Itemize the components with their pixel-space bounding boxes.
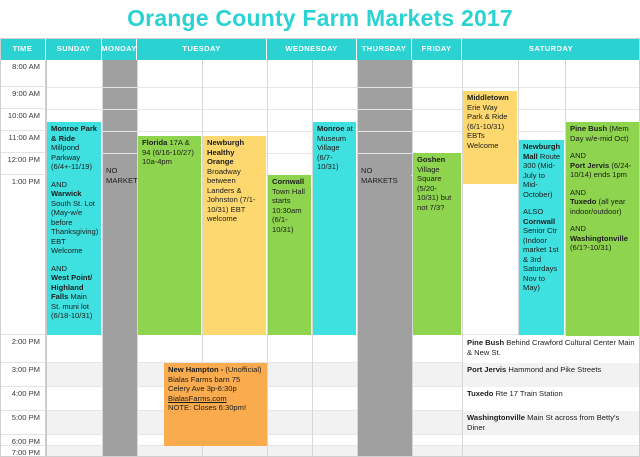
bg-sunday <box>46 411 102 435</box>
event-text: AND <box>51 180 98 190</box>
event-text: Broadway between Landers & Johnston (7/1… <box>207 167 256 224</box>
location-name: Tuxedo <box>467 389 493 398</box>
header-tuesday: TUESDAY <box>137 38 267 60</box>
monday-no-markets: NO MARKETS <box>103 164 137 188</box>
event-text: Cornwall <box>272 177 304 186</box>
event-text: Monroe Park & Ride <box>51 124 97 143</box>
event-text: New Hampton - <box>168 365 223 374</box>
bg-sunday <box>46 335 102 363</box>
bg-friday <box>412 387 462 411</box>
event-text: Middletown <box>467 93 509 102</box>
bg-friday <box>412 411 462 435</box>
location-note-port-jervis: Port Jervis Hammond and Pike Streets <box>463 363 640 387</box>
bg-sunday <box>46 435 102 446</box>
location-note-tuxedo: Tuxedo Rte 17 Train Station <box>463 387 640 411</box>
col-divider <box>102 60 103 457</box>
event-text: Warwick <box>51 189 82 198</box>
event-text: Village Square (5/20-10/31) but not 7/3? <box>417 165 451 212</box>
event-text: South St. Lot (May-w/e before Thanksgivi… <box>51 199 98 256</box>
bg-saturday <box>462 435 640 446</box>
time-label-8am: 8:00 AM <box>0 60 46 87</box>
row-sep <box>46 87 640 88</box>
event-text: NOTE: Closes 6:30pm! <box>168 403 264 413</box>
event-wednesday-monroe[interactable]: Monroe at Museum Village (6/7-10/31) <box>313 122 356 335</box>
event-text: Erie Way Park & Ride (6/1-10/31) EBTs We… <box>467 103 508 150</box>
time-label-12pm: 12:00 PM <box>0 153 46 175</box>
location-address: Rte 17 Train Station <box>493 389 562 398</box>
event-tuesday-new-hampton[interactable]: New Hampton - (Unofficial) Bialas Farms … <box>164 363 267 446</box>
time-label-4pm: 4:00 PM <box>0 387 46 411</box>
event-text: Newburgh Healthy Orange <box>207 138 244 166</box>
header-wednesday: WEDNESDAY <box>267 38 357 60</box>
bialas-farms-link[interactable]: BialasFarms.com <box>168 394 264 404</box>
event-text: Pine Bush <box>570 124 607 133</box>
event-text: Town Hall starts 10:30am (6/1-10/31) <box>272 187 305 234</box>
time-label-9am: 9:00 AM <box>0 87 46 109</box>
location-name: Pine Bush <box>467 338 504 347</box>
event-text: Washingtonville <box>570 234 628 243</box>
bg-saturday <box>462 446 640 457</box>
event-text: Florida <box>142 138 167 147</box>
time-label-5pm: 5:00 PM <box>0 411 46 435</box>
event-text: Monroe <box>317 124 344 133</box>
location-name: Port Jervis <box>467 365 506 374</box>
location-name: Washingtonville <box>467 413 525 422</box>
time-label-10am: 10:00 AM <box>0 109 46 131</box>
row-sep <box>46 109 640 110</box>
schedule-grid: TIME SUNDAY MONDAY TUESDAY WEDNESDAY THU… <box>0 38 640 457</box>
event-sunday-markets[interactable]: Monroe Park & Ride Millpond Parkway (6/4… <box>47 122 101 335</box>
event-saturday-newburgh-mall[interactable]: Newburgh Mall Route 300 (Mid-July to Mid… <box>519 140 564 335</box>
event-text: ALSO <box>523 207 561 217</box>
event-friday-goshen[interactable]: Goshen Village Square (5/20-10/31) but n… <box>413 153 461 335</box>
event-saturday-middletown[interactable]: Middletown Erie Way Park & Ride (6/1-10/… <box>463 91 517 184</box>
location-note-pine-bush: Pine Bush Behind Crawford Cultural Cente… <box>463 336 640 363</box>
event-text: Port Jervis <box>570 161 609 170</box>
event-text: Goshen <box>417 155 445 164</box>
event-text: AND <box>51 264 98 274</box>
bg-thursday <box>357 60 412 457</box>
header-saturday: SATURDAY <box>462 38 640 60</box>
event-text: AND <box>570 188 636 198</box>
event-text: Millpond Parkway (6/4+-11/19) <box>51 143 92 171</box>
header-sunday: SUNDAY <box>46 38 102 60</box>
event-text: Cornwall <box>523 217 555 226</box>
col-divider <box>357 60 358 457</box>
bg-monday <box>102 60 137 457</box>
event-text: Senior Ctr (Indoor market 1st & 3rd Satu… <box>523 226 558 292</box>
time-label-1pm: 1:00 PM <box>0 175 46 335</box>
bg-friday <box>412 335 462 363</box>
bg-sunday <box>46 446 102 457</box>
bg-friday <box>412 446 462 457</box>
bg-friday <box>412 435 462 446</box>
event-tuesday-florida[interactable]: Florida 17A & 94 (6/16-10/27) 10a-4pm <box>138 136 201 335</box>
header-friday: FRIDAY <box>412 38 462 60</box>
time-label-11am: 11:00 AM <box>0 131 46 153</box>
bg-sunday <box>46 363 102 387</box>
location-address: Hammond and Pike Streets <box>506 365 601 374</box>
event-tuesday-newburgh-healthy-orange[interactable]: Newburgh Healthy Orange Broadway between… <box>203 136 266 335</box>
event-text: AND <box>570 151 636 161</box>
header-time: TIME <box>0 38 46 60</box>
event-wednesday-cornwall[interactable]: Cornwall Town Hall starts 10:30am (6/1-1… <box>268 175 311 335</box>
thursday-no-markets: NO MARKETS <box>358 164 411 188</box>
event-text: AND <box>570 224 636 234</box>
location-note-washingtonville: Washingtonville Main St across from Bett… <box>463 411 640 435</box>
time-label-2pm: 2:00 PM <box>0 335 46 363</box>
header-thursday: THURSDAY <box>357 38 412 60</box>
bg-sunday <box>46 387 102 411</box>
time-label-7pm: 7:00 PM <box>0 446 46 457</box>
page-title: Orange County Farm Markets 2017 <box>0 0 640 38</box>
bg-friday <box>412 363 462 387</box>
time-label-3pm: 3:00 PM <box>0 363 46 387</box>
event-text: (6/1?-10/31) <box>570 243 611 252</box>
event-text: Tuxedo <box>570 197 596 206</box>
time-label-6pm: 6:00 PM <box>0 435 46 446</box>
header-monday: MONDAY <box>102 38 137 60</box>
